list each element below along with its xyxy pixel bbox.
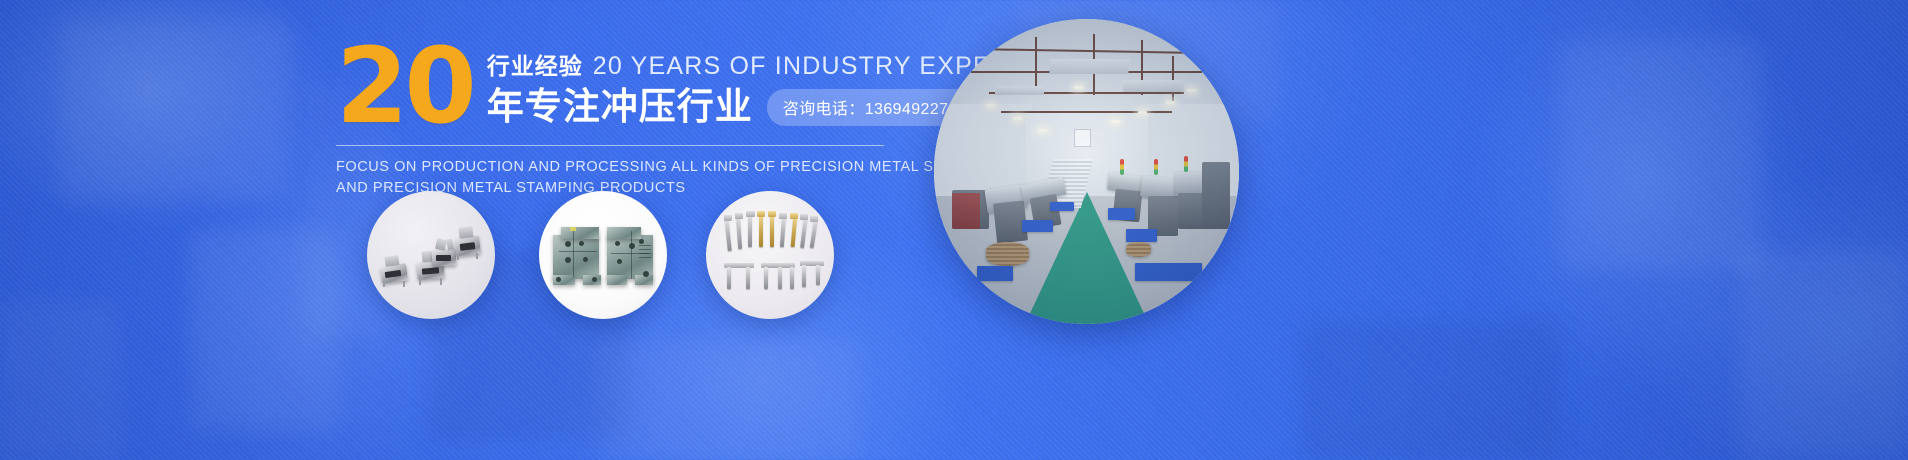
headline-row: 20 行业经验 20 YEARS OF INDUSTRY EXPERIENCE … xyxy=(336,40,896,131)
product-circle-usb-connectors xyxy=(367,191,495,319)
subcopy-line-1: FOCUS ON PRODUCTION AND PROCESSING ALL K… xyxy=(336,157,896,178)
headline-block: 20 行业经验 20 YEARS OF INDUSTRY EXPERIENCE … xyxy=(336,40,896,199)
headline-cn-kicker: 行业经验 xyxy=(487,55,583,78)
headline-cn-main: 年专注冲压行业 xyxy=(487,88,753,127)
factory-photo-circle xyxy=(934,19,1239,324)
hero-banner: 20 行业经验 20 YEARS OF INDUSTRY EXPERIENCE … xyxy=(0,0,1908,460)
factory-workshop-image xyxy=(934,19,1239,324)
product-circle-stamping-moulds xyxy=(539,191,667,319)
product-circle-terminal-pins xyxy=(706,191,834,319)
years-number: 20 xyxy=(336,42,473,131)
